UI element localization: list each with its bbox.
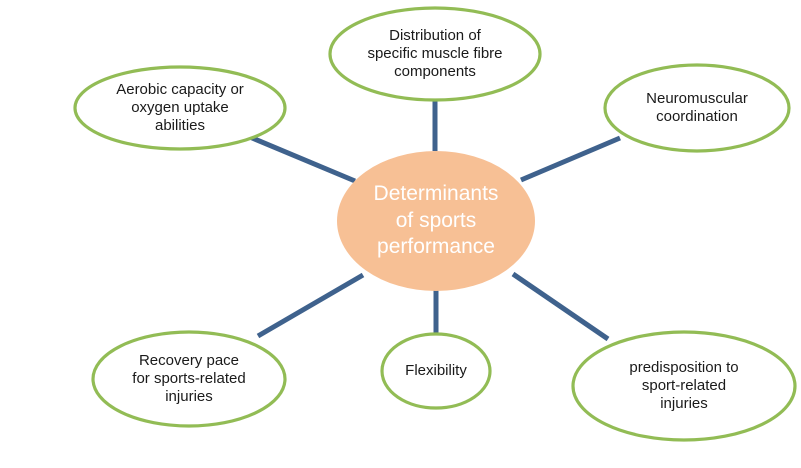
connector-line-center-to-recovery-pace xyxy=(258,275,363,336)
node-ellipse-flexibility[interactable] xyxy=(382,334,490,408)
diagram-shapes xyxy=(0,0,801,468)
center-node-ellipse[interactable] xyxy=(337,151,535,291)
node-ellipse-predisposition[interactable] xyxy=(573,332,795,440)
node-ellipse-neuromuscular[interactable] xyxy=(605,65,789,151)
node-ellipse-muscle-fibre[interactable] xyxy=(330,8,540,100)
diagram-canvas: Distribution of specific muscle fibre co… xyxy=(0,0,801,468)
connector-line-center-to-neuromuscular xyxy=(521,138,620,180)
connector-line-center-to-aerobic-capacity xyxy=(245,135,355,181)
connector-line-center-to-predisposition xyxy=(513,274,608,339)
node-ellipse-aerobic-capacity[interactable] xyxy=(75,67,285,149)
node-ellipse-recovery-pace[interactable] xyxy=(93,332,285,426)
